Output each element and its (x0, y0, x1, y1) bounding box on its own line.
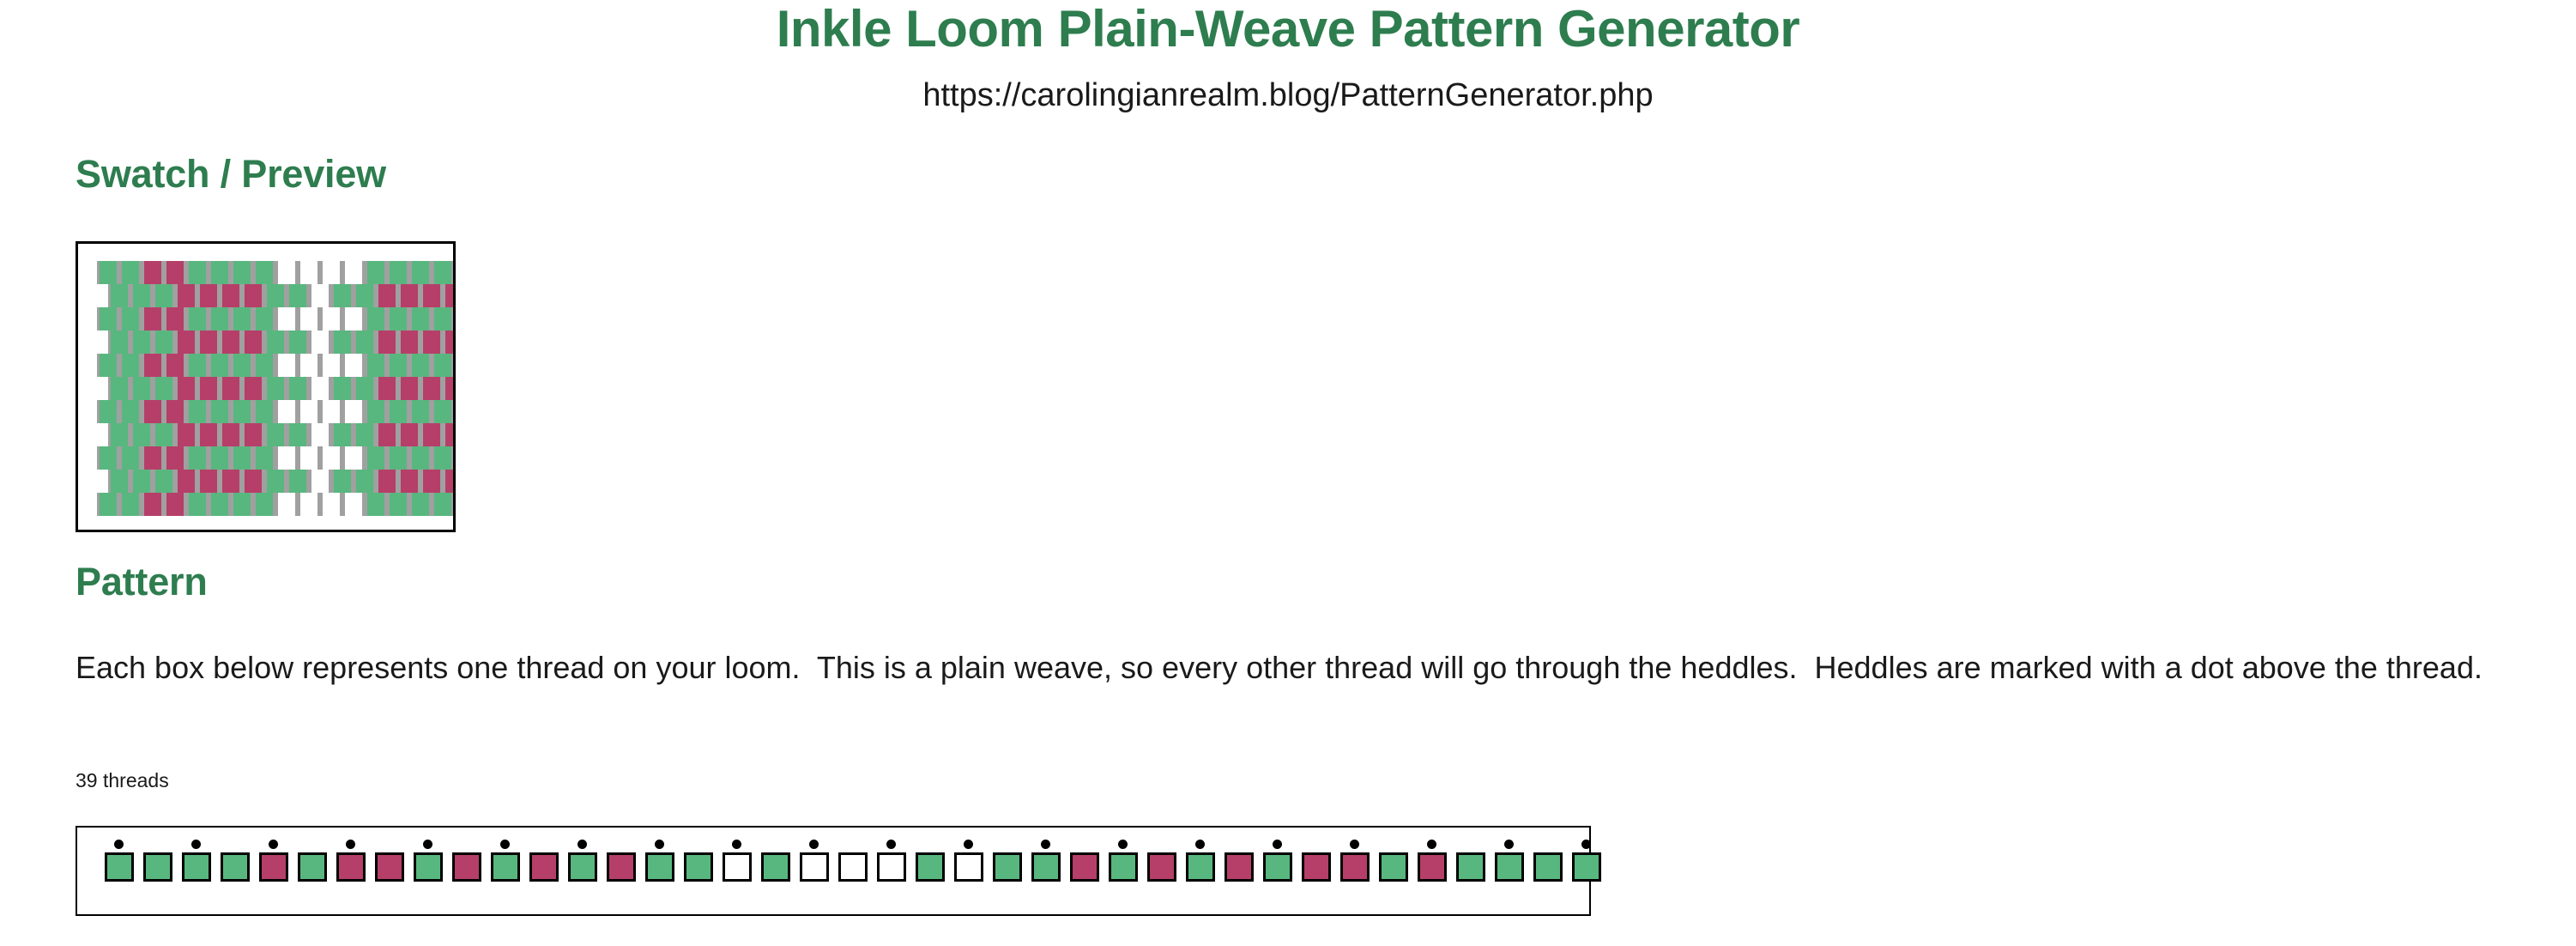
swatch-cell (253, 261, 275, 284)
swatch-cell (253, 307, 275, 330)
swatch-cell (432, 307, 454, 330)
heddle-dot-icon (1195, 840, 1205, 849)
swatch-row (108, 330, 456, 354)
swatch-row (97, 307, 456, 330)
thread-cell[interactable] (259, 852, 288, 882)
swatch-cell (409, 400, 432, 423)
swatch-cell (209, 493, 231, 516)
thread-slot[interactable] (254, 840, 293, 882)
swatch-cell (175, 470, 197, 493)
swatch-cell (175, 330, 197, 354)
swatch-cell (142, 493, 164, 516)
swatch-cell (231, 400, 253, 423)
thread-cell[interactable] (877, 852, 906, 882)
thread-cell[interactable] (452, 852, 481, 882)
swatch-cell (153, 330, 175, 354)
swatch-row (108, 423, 456, 446)
thread-slot[interactable] (1412, 840, 1451, 882)
swatch-cell (309, 470, 331, 493)
swatch-cell (331, 377, 354, 400)
thread-cell[interactable] (568, 852, 597, 882)
heddle-dot-icon (423, 840, 432, 849)
swatch-cell (153, 284, 175, 307)
swatch-cell (387, 307, 409, 330)
swatch-cell (398, 470, 420, 493)
swatch-cell (398, 377, 420, 400)
heddle-dot-icon (269, 840, 278, 849)
swatch-cell (432, 354, 454, 377)
swatch-cell (253, 400, 275, 423)
swatch-cell (365, 354, 387, 377)
swatch-cell (242, 330, 264, 354)
swatch-cell (354, 377, 376, 400)
swatch-cell (376, 470, 398, 493)
swatch-cell (253, 446, 275, 470)
swatch-cell (119, 261, 142, 284)
thread-slot[interactable] (1104, 840, 1142, 882)
heddle-dot-icon (1581, 840, 1591, 849)
swatch-cell (398, 284, 420, 307)
thread-cell[interactable] (1263, 852, 1292, 882)
swatch-cell (320, 261, 342, 284)
thread-slot[interactable] (602, 840, 640, 882)
thread-cell[interactable] (1070, 852, 1099, 882)
thread-slot[interactable] (679, 840, 717, 882)
swatch-cell (376, 377, 398, 400)
thread-cell[interactable] (298, 852, 327, 882)
swatch-cell (186, 446, 209, 470)
swatch-cell (275, 354, 298, 377)
thread-cell[interactable] (1495, 852, 1524, 882)
swatch-cell (119, 354, 142, 377)
swatch-cell (320, 493, 342, 516)
swatch-cell (186, 307, 209, 330)
swatch-cell (309, 284, 331, 307)
swatch-cell (197, 330, 220, 354)
thread-slot[interactable] (640, 840, 679, 882)
heddle-dot-placeholder (230, 840, 239, 849)
swatch-cell (298, 354, 320, 377)
swatch-cell (175, 284, 197, 307)
swatch-cell (142, 307, 164, 330)
swatch-cell (454, 446, 456, 470)
swatch-cell (331, 423, 354, 446)
thread-slot[interactable] (1335, 840, 1374, 882)
thread-cell[interactable] (1572, 852, 1601, 882)
swatch-cell (186, 261, 209, 284)
swatch-cell (220, 470, 242, 493)
swatch-cell (365, 446, 387, 470)
thread-slot[interactable] (1142, 840, 1181, 882)
thread-slot[interactable] (1065, 840, 1104, 882)
heddle-dot-placeholder (925, 840, 934, 849)
thread-slot[interactable] (331, 840, 370, 882)
swatch-cell (432, 400, 454, 423)
thread-cell[interactable] (1302, 852, 1331, 882)
swatch-cell (320, 446, 342, 470)
swatch-cell (253, 354, 275, 377)
swatch-cell (130, 423, 153, 446)
heddle-dot-icon (346, 840, 355, 849)
swatch-cell (387, 261, 409, 284)
swatch-cell (119, 446, 142, 470)
thread-slot[interactable] (177, 840, 215, 882)
thread-pattern-strip[interactable] (76, 826, 1591, 916)
swatch-cell (376, 423, 398, 446)
swatch-cell (164, 354, 186, 377)
thread-cell[interactable] (1456, 852, 1485, 882)
heddle-dot-placeholder (616, 840, 626, 849)
swatch-cell (376, 284, 398, 307)
swatch-cell (331, 470, 354, 493)
swatch-preview-canvas (76, 241, 456, 532)
swatch-cell (186, 354, 209, 377)
thread-slot[interactable] (1181, 840, 1219, 882)
swatch-cell (387, 354, 409, 377)
thread-slot[interactable] (910, 840, 949, 882)
thread-slot[interactable] (1219, 840, 1258, 882)
heddle-dot-placeholder (1157, 840, 1166, 849)
heddle-dot-icon (577, 840, 587, 849)
swatch-cell (175, 423, 197, 446)
swatch-cell (275, 261, 298, 284)
swatch-cell (220, 330, 242, 354)
thread-cell[interactable] (1418, 852, 1447, 882)
thread-slot[interactable] (1374, 840, 1412, 882)
swatch-cell (97, 400, 119, 423)
swatch-cell (342, 446, 365, 470)
heddle-dot-placeholder (307, 840, 317, 849)
swatch-cell (108, 470, 130, 493)
heddle-dot-placeholder (1388, 840, 1398, 849)
swatch-cell (108, 377, 130, 400)
thread-cell[interactable] (645, 852, 674, 882)
swatch-cell (443, 377, 456, 400)
thread-slot[interactable] (717, 840, 756, 882)
swatch-cell (97, 354, 119, 377)
thread-cell[interactable] (1340, 852, 1370, 882)
swatch-row (97, 446, 456, 470)
thread-slot[interactable] (524, 840, 563, 882)
swatch-cell (298, 493, 320, 516)
thread-slot[interactable] (1026, 840, 1065, 882)
swatch-cell (387, 446, 409, 470)
swatch-cell (197, 470, 220, 493)
swatch-cell (130, 284, 153, 307)
swatch-cell (153, 470, 175, 493)
swatch-cell (331, 284, 354, 307)
thread-slot[interactable] (872, 840, 910, 882)
swatch-cell (398, 423, 420, 446)
swatch-cell (142, 446, 164, 470)
heddle-dot-icon (1427, 840, 1436, 849)
swatch-cell (142, 354, 164, 377)
thread-cell[interactable] (529, 852, 559, 882)
swatch-cell (197, 377, 220, 400)
swatch-cell (320, 400, 342, 423)
swatch-cell (220, 284, 242, 307)
thread-cell[interactable] (1147, 852, 1176, 882)
swatch-cell (398, 330, 420, 354)
heddle-dot-icon (1041, 840, 1050, 849)
thread-slot[interactable] (447, 840, 486, 882)
swatch-cell (443, 284, 456, 307)
thread-slot[interactable] (795, 840, 833, 882)
swatch-cell (287, 377, 309, 400)
swatch-cell (164, 307, 186, 330)
swatch-cell (130, 330, 153, 354)
swatch-cell (354, 423, 376, 446)
swatch-row (97, 400, 456, 423)
swatch-cell (209, 446, 231, 470)
heddle-dot-placeholder (848, 840, 857, 849)
swatch-cell (197, 284, 220, 307)
swatch-cell (97, 261, 119, 284)
swatch-cell (231, 354, 253, 377)
swatch-cell (387, 493, 409, 516)
thread-slot[interactable] (1528, 840, 1567, 882)
heddle-dot-placeholder (1311, 840, 1321, 849)
thread-cell[interactable] (838, 852, 868, 882)
swatch-cell (119, 307, 142, 330)
thread-slot[interactable] (1451, 840, 1490, 882)
thread-cell[interactable] (1379, 852, 1408, 882)
heddle-dot-placeholder (1543, 840, 1552, 849)
thread-slot[interactable] (949, 840, 988, 882)
heddle-dot-icon (1504, 840, 1514, 849)
swatch-cell (209, 400, 231, 423)
heddle-dot-icon (500, 840, 510, 849)
swatch-cell (420, 470, 443, 493)
swatch-cell (142, 261, 164, 284)
swatch-cell (420, 284, 443, 307)
thread-slot[interactable] (1258, 840, 1297, 882)
swatch-cell (108, 423, 130, 446)
heddle-dot-icon (964, 840, 973, 849)
swatch-cell (108, 284, 130, 307)
thread-cell[interactable] (105, 852, 134, 882)
swatch-cell (153, 423, 175, 446)
swatch-cell (231, 446, 253, 470)
swatch-cell (231, 307, 253, 330)
heddle-dot-placeholder (462, 840, 471, 849)
swatch-cell (231, 493, 253, 516)
page-url: https://carolingianrealm.blog/PatternGen… (0, 55, 2576, 112)
swatch-cell (97, 446, 119, 470)
swatch-row (108, 284, 456, 307)
swatch-cell (275, 446, 298, 470)
thread-cell[interactable] (800, 852, 829, 882)
heddle-dot-placeholder (771, 840, 780, 849)
swatch-preview-heading: Swatch / Preview (76, 155, 386, 193)
swatch-cell (264, 330, 287, 354)
swatch-cell (164, 400, 186, 423)
swatch-cell (432, 261, 454, 284)
thread-cell[interactable] (993, 852, 1022, 882)
thread-cell[interactable] (221, 852, 250, 882)
heddle-dot-icon (1273, 840, 1282, 849)
thread-list (100, 840, 1605, 882)
thread-cell[interactable] (143, 852, 172, 882)
swatch-cell (298, 446, 320, 470)
thread-cell[interactable] (1533, 852, 1563, 882)
swatch-cell (209, 354, 231, 377)
thread-slot[interactable] (215, 840, 254, 882)
heddle-dot-placeholder (693, 840, 703, 849)
swatch-cell (242, 377, 264, 400)
swatch-cell (130, 470, 153, 493)
swatch-cell (209, 261, 231, 284)
swatch-cell (220, 377, 242, 400)
swatch-cell (175, 377, 197, 400)
swatch-cell (420, 423, 443, 446)
swatch-cell (298, 307, 320, 330)
swatch-cell (242, 284, 264, 307)
thread-slot[interactable] (988, 840, 1026, 882)
swatch-cell (342, 493, 365, 516)
thread-cell[interactable] (954, 852, 983, 882)
swatch-cell (331, 330, 354, 354)
swatch-cell (342, 400, 365, 423)
swatch-row (108, 377, 456, 400)
heddle-dot-icon (1118, 840, 1128, 849)
swatch-cell (298, 400, 320, 423)
swatch-cell (164, 493, 186, 516)
swatch-cell (420, 377, 443, 400)
thread-cell[interactable] (1109, 852, 1138, 882)
pattern-description: Each box below represents one thread on … (76, 646, 2495, 690)
swatch-cell (231, 261, 253, 284)
swatch-cell (342, 354, 365, 377)
swatch-cell (420, 330, 443, 354)
swatch-cell (97, 307, 119, 330)
swatch-cell (242, 470, 264, 493)
thread-slot[interactable] (1567, 840, 1605, 882)
thread-cell[interactable] (336, 852, 366, 882)
swatch-cell (119, 493, 142, 516)
page-title: Inkle Loom Plain-Weave Pattern Generator (0, 0, 2576, 55)
thread-slot[interactable] (293, 840, 331, 882)
swatch-cell (342, 261, 365, 284)
thread-slot[interactable] (1490, 840, 1528, 882)
thread-slot[interactable] (756, 840, 795, 882)
pattern-heading: Pattern (76, 562, 208, 601)
swatch-cell (119, 400, 142, 423)
swatch-cell (186, 400, 209, 423)
thread-slot[interactable] (1297, 840, 1335, 882)
heddle-dot-placeholder (539, 840, 548, 849)
thread-slot[interactable] (486, 840, 524, 882)
thread-cell[interactable] (414, 852, 443, 882)
thread-cell[interactable] (684, 852, 713, 882)
thread-cell[interactable] (1186, 852, 1215, 882)
swatch-cell (409, 307, 432, 330)
swatch-cell (287, 423, 309, 446)
swatch-cell (108, 330, 130, 354)
swatch-cell (309, 330, 331, 354)
swatch-cell (275, 307, 298, 330)
swatch-cell (287, 284, 309, 307)
swatch-cell (443, 330, 456, 354)
swatch-cell (320, 354, 342, 377)
thread-cell[interactable] (1225, 852, 1254, 882)
swatch-cell (454, 400, 456, 423)
thread-cell[interactable] (1031, 852, 1061, 882)
thread-cell[interactable] (916, 852, 945, 882)
swatch-cell (454, 307, 456, 330)
swatch-cell (186, 493, 209, 516)
swatch-cell (153, 377, 175, 400)
swatch-cell (454, 261, 456, 284)
heddle-dot-placeholder (1234, 840, 1243, 849)
heddle-dot-icon (191, 840, 201, 849)
swatch-cell (264, 470, 287, 493)
swatch-cell (409, 493, 432, 516)
swatch-cell (264, 284, 287, 307)
swatch-cell (354, 470, 376, 493)
heddle-dot-icon (1350, 840, 1359, 849)
heddle-dot-icon (809, 840, 819, 849)
heddle-dot-placeholder (1466, 840, 1475, 849)
swatch-cell (443, 423, 456, 446)
swatch-cell (275, 400, 298, 423)
swatch-row (108, 470, 456, 493)
swatch-cell (409, 446, 432, 470)
thread-cell[interactable] (723, 852, 752, 882)
swatch-cell (264, 377, 287, 400)
swatch-cell (298, 261, 320, 284)
swatch-cell (309, 423, 331, 446)
swatch-cell (164, 446, 186, 470)
thread-cell[interactable] (761, 852, 790, 882)
swatch-cell (387, 400, 409, 423)
thread-cell[interactable] (607, 852, 636, 882)
swatch-cell (409, 261, 432, 284)
swatch-cell (220, 423, 242, 446)
heddle-dot-placeholder (1002, 840, 1012, 849)
swatch-cell (253, 493, 275, 516)
thread-slot[interactable] (408, 840, 447, 882)
swatch-cell (365, 261, 387, 284)
swatch-cell (432, 493, 454, 516)
thread-cell[interactable] (182, 852, 211, 882)
heddle-dot-placeholder (153, 840, 162, 849)
swatch-cell (287, 470, 309, 493)
swatch-cell (275, 493, 298, 516)
swatch-cell (264, 423, 287, 446)
swatch-cell (365, 400, 387, 423)
thread-slot[interactable] (100, 840, 138, 882)
swatch-cell (354, 330, 376, 354)
thread-cell[interactable] (375, 852, 404, 882)
swatch-cell (443, 470, 456, 493)
thread-count-label: 39 threads (76, 771, 169, 791)
heddle-dot-placeholder (384, 840, 394, 849)
swatch-cell (142, 400, 164, 423)
swatch-cell (454, 493, 456, 516)
heddle-dot-icon (732, 840, 741, 849)
swatch-cell (287, 330, 309, 354)
thread-slot[interactable] (138, 840, 177, 882)
swatch-cell (209, 307, 231, 330)
swatch-cell (376, 330, 398, 354)
thread-slot[interactable] (370, 840, 408, 882)
thread-slot[interactable] (563, 840, 602, 882)
swatch-cell (409, 354, 432, 377)
thread-slot[interactable] (833, 840, 872, 882)
swatch-cell (309, 377, 331, 400)
thread-cell[interactable] (491, 852, 520, 882)
